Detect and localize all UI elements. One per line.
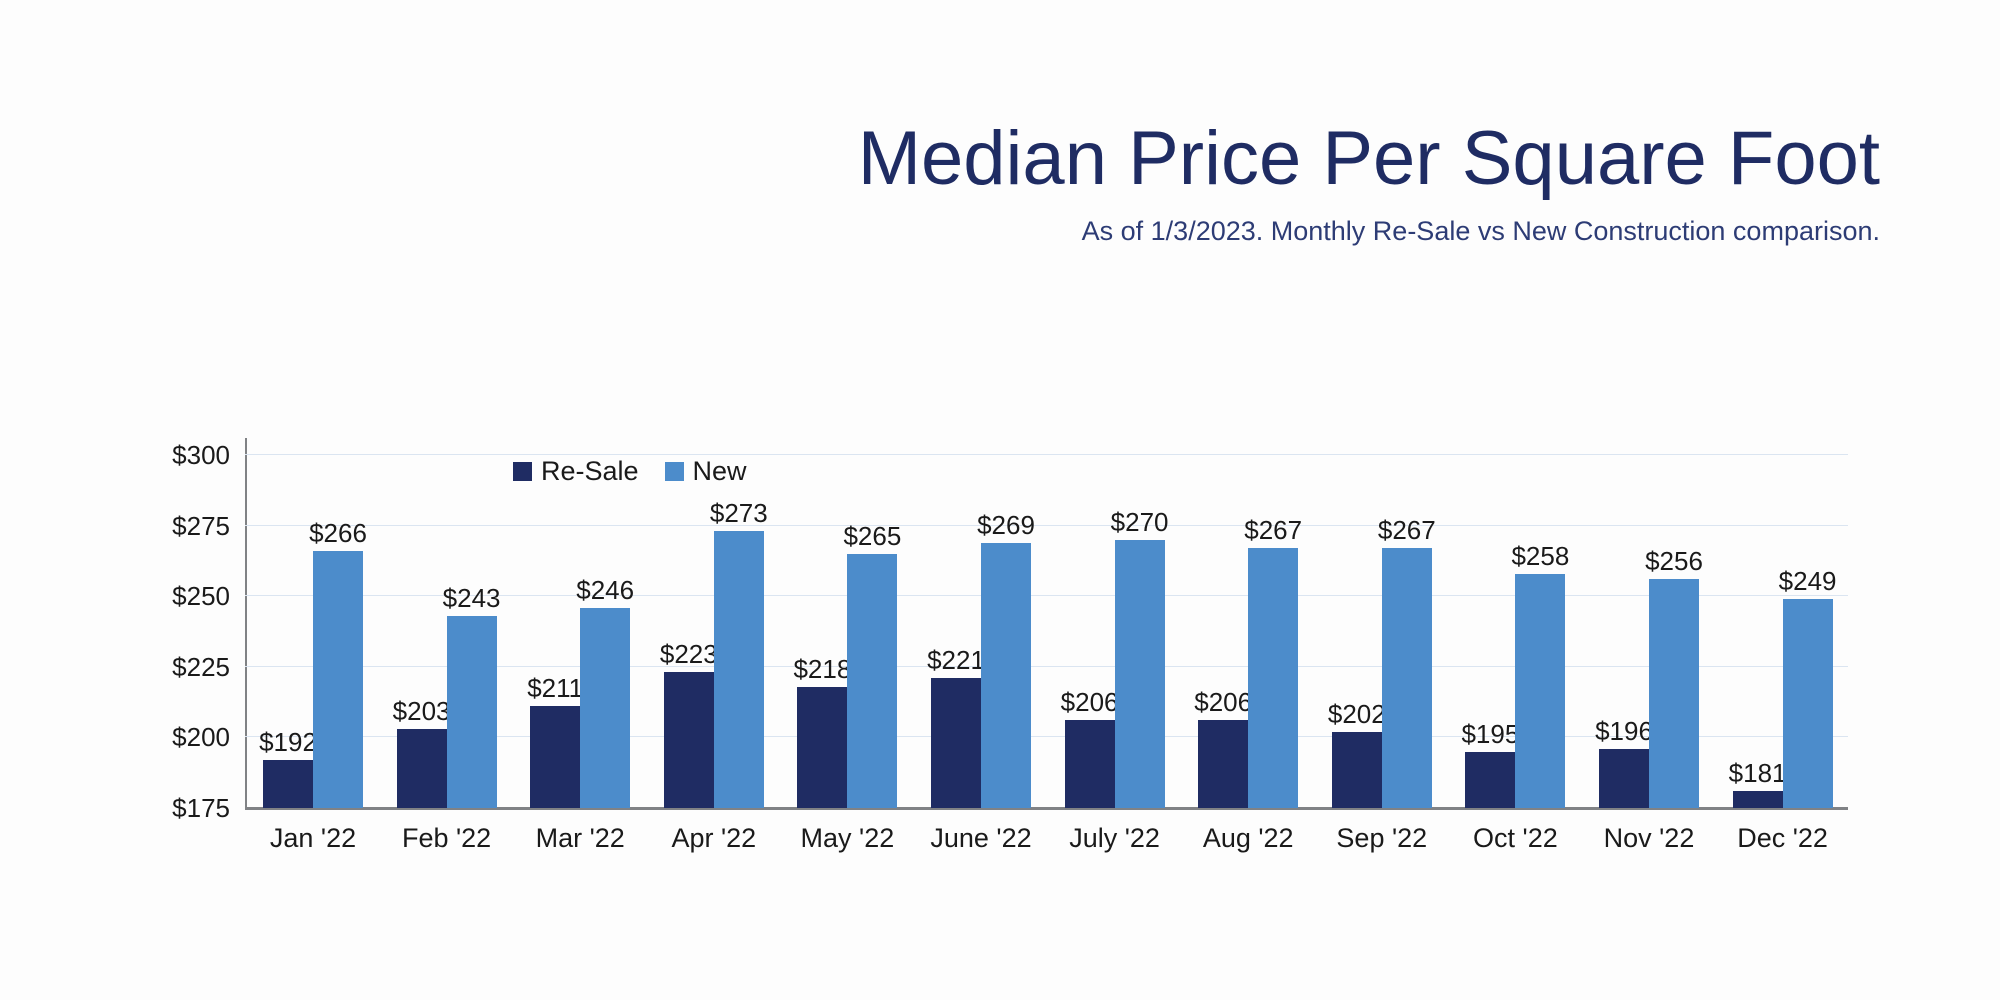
bar-re-sale[interactable]: $206 (1065, 720, 1115, 808)
chart-subtitle: As of 1/3/2023. Monthly Re-Sale vs New C… (0, 216, 1880, 246)
y-axis-tick-label: $250 (110, 583, 230, 609)
bar-value-label: $265 (843, 523, 901, 549)
bar-group: $206$270 (1065, 455, 1165, 808)
bar-group: $181$249 (1733, 455, 1833, 808)
bar-re-sale[interactable]: $192 (263, 760, 313, 808)
bar-group: $218$265 (797, 455, 897, 808)
bar-new[interactable]: $270 (1115, 540, 1165, 808)
legend-swatch-icon (513, 462, 532, 481)
x-axis-tick-label: Dec '22 (1703, 822, 1863, 854)
bar-value-label: $181 (1729, 760, 1787, 786)
bar-group: $203$243 (397, 455, 497, 808)
bar-value-label: $249 (1779, 568, 1837, 594)
y-axis-tick-label: $175 (110, 795, 230, 821)
bar-value-label: $206 (1194, 689, 1252, 715)
bar-value-label: $246 (576, 577, 634, 603)
bar-new[interactable]: $246 (580, 608, 630, 809)
bar-value-label: $269 (977, 512, 1035, 538)
bar-value-label: $256 (1645, 548, 1703, 574)
bar-value-label: $270 (1111, 509, 1169, 535)
bar-value-label: $267 (1244, 517, 1302, 543)
bar-value-label: $203 (393, 698, 451, 724)
bar-value-label: $258 (1511, 543, 1569, 569)
bar-new[interactable]: $267 (1382, 548, 1432, 808)
bar-group: $196$256 (1599, 455, 1699, 808)
bar-re-sale[interactable]: $195 (1465, 752, 1515, 808)
bar-value-label: $273 (710, 500, 768, 526)
bar-group: $206$267 (1198, 455, 1298, 808)
bar-new[interactable]: $265 (847, 554, 897, 808)
bars-layer: $192$266$203$243$211$246$223$273$218$265… (245, 455, 1848, 808)
bar-value-label: $221 (927, 647, 985, 673)
bar-group: $221$269 (931, 455, 1031, 808)
bar-value-label: $211 (527, 675, 583, 701)
y-axis-tick-label: $225 (110, 654, 230, 680)
bar-new[interactable]: $266 (313, 551, 363, 808)
bar-new[interactable]: $249 (1783, 599, 1833, 808)
bar-value-label: $192 (259, 729, 317, 755)
chart-card: Median Price Per Square Foot As of 1/3/2… (0, 0, 2000, 1000)
bar-value-label: $195 (1461, 721, 1519, 747)
bar-new[interactable]: $267 (1248, 548, 1298, 808)
legend-swatch-icon (665, 462, 684, 481)
bar-value-label: $243 (443, 585, 501, 611)
x-axis-tick-labels: Jan '22Feb '22Mar '22Apr '22May '22June … (245, 822, 1848, 862)
bar-re-sale[interactable]: $181 (1733, 791, 1783, 808)
bar-group: $211$246 (530, 455, 630, 808)
legend-label: Re-Sale (541, 458, 639, 485)
bar-re-sale[interactable]: $221 (931, 678, 981, 808)
chart-legend: Re-SaleNew (513, 458, 747, 485)
bar-value-label: $266 (309, 520, 367, 546)
bar-new[interactable]: $269 (981, 543, 1031, 808)
bar-re-sale[interactable]: $223 (664, 672, 714, 808)
bar-value-label: $206 (1061, 689, 1119, 715)
legend-label: New (693, 458, 747, 485)
bar-re-sale[interactable]: $211 (530, 706, 580, 808)
bar-re-sale[interactable]: $196 (1599, 749, 1649, 808)
bar-re-sale[interactable]: $206 (1198, 720, 1248, 808)
bar-group: $202$267 (1332, 455, 1432, 808)
chart-header: Median Price Per Square Foot As of 1/3/2… (0, 118, 1880, 246)
bar-re-sale[interactable]: $203 (397, 729, 447, 808)
y-axis-tick-label: $275 (110, 513, 230, 539)
bar-new[interactable]: $258 (1515, 574, 1565, 808)
y-axis-tick-label: $200 (110, 724, 230, 750)
bar-value-label: $223 (660, 641, 718, 667)
bar-group: $195$258 (1465, 455, 1565, 808)
bar-re-sale[interactable]: $202 (1332, 732, 1382, 808)
bar-value-label: $267 (1378, 517, 1436, 543)
bar-group: $223$273 (664, 455, 764, 808)
bar-value-label: $218 (793, 656, 851, 682)
bar-new[interactable]: $243 (447, 616, 497, 808)
page-title: Median Price Per Square Foot (0, 118, 1880, 200)
bar-group: $192$266 (263, 455, 363, 808)
bar-value-label: $202 (1328, 701, 1386, 727)
y-axis-tick-label: $300 (110, 442, 230, 468)
bar-re-sale[interactable]: $218 (797, 687, 847, 808)
bar-new[interactable]: $256 (1649, 579, 1699, 808)
legend-entry-re-sale[interactable]: Re-Sale (513, 458, 639, 485)
bar-value-label: $196 (1595, 718, 1653, 744)
bar-new[interactable]: $273 (714, 531, 764, 808)
legend-entry-new[interactable]: New (665, 458, 747, 485)
